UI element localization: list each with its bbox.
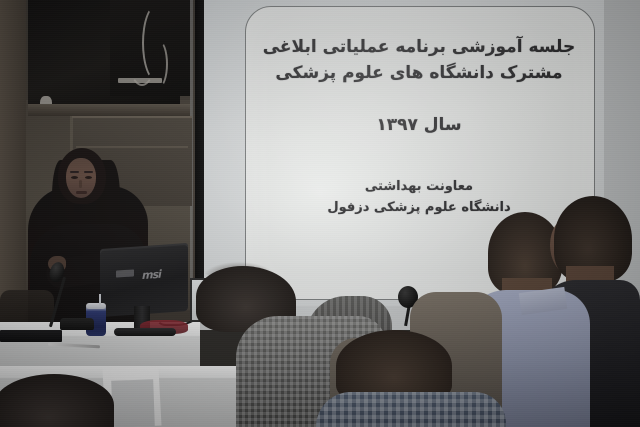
monitor-badge: [116, 269, 134, 277]
presenter-mouth: [76, 191, 87, 194]
papers-stack-secondary: [111, 379, 155, 427]
attendee-front-plaid-shirt: [316, 392, 506, 427]
background-chair: [0, 290, 54, 324]
presenter-eye-left: [71, 176, 78, 179]
presenter-eye-right: [85, 176, 92, 179]
presenter-nose: [79, 180, 82, 188]
slide-text-block: جلسه آموزشی برنامه عملیاتی ابلاغی مشترک …: [250, 34, 588, 218]
slide-subtitle-line-1: معاونت بهداشتی: [250, 176, 588, 197]
equipment-shelf: [28, 104, 190, 116]
notebook: [0, 330, 62, 342]
equipment-strip: [118, 78, 162, 83]
slide-title-line-1: جلسه آموزشی برنامه عملیاتی ابلاغی: [250, 34, 588, 60]
podium-microphone-base: [60, 318, 94, 330]
door-seam: [76, 146, 188, 148]
cup-lid: [86, 303, 106, 309]
presenter-eyebrow-left: [70, 171, 79, 173]
monitor-brand-logo: msi: [142, 267, 172, 281]
conference-room-photo: جلسه آموزشی برنامه عملیاتی ابلاغی مشترک …: [0, 0, 640, 427]
presenter-eyebrow-right: [84, 171, 93, 173]
slide-year: سال ۱۳۹۷: [250, 112, 588, 138]
cup-straw: [99, 294, 101, 306]
monitor-base: [114, 328, 176, 336]
projection-screen-frame: [195, 0, 204, 310]
slide-title-line-2: مشترک دانشگاه های علوم پزشکی: [250, 60, 588, 86]
